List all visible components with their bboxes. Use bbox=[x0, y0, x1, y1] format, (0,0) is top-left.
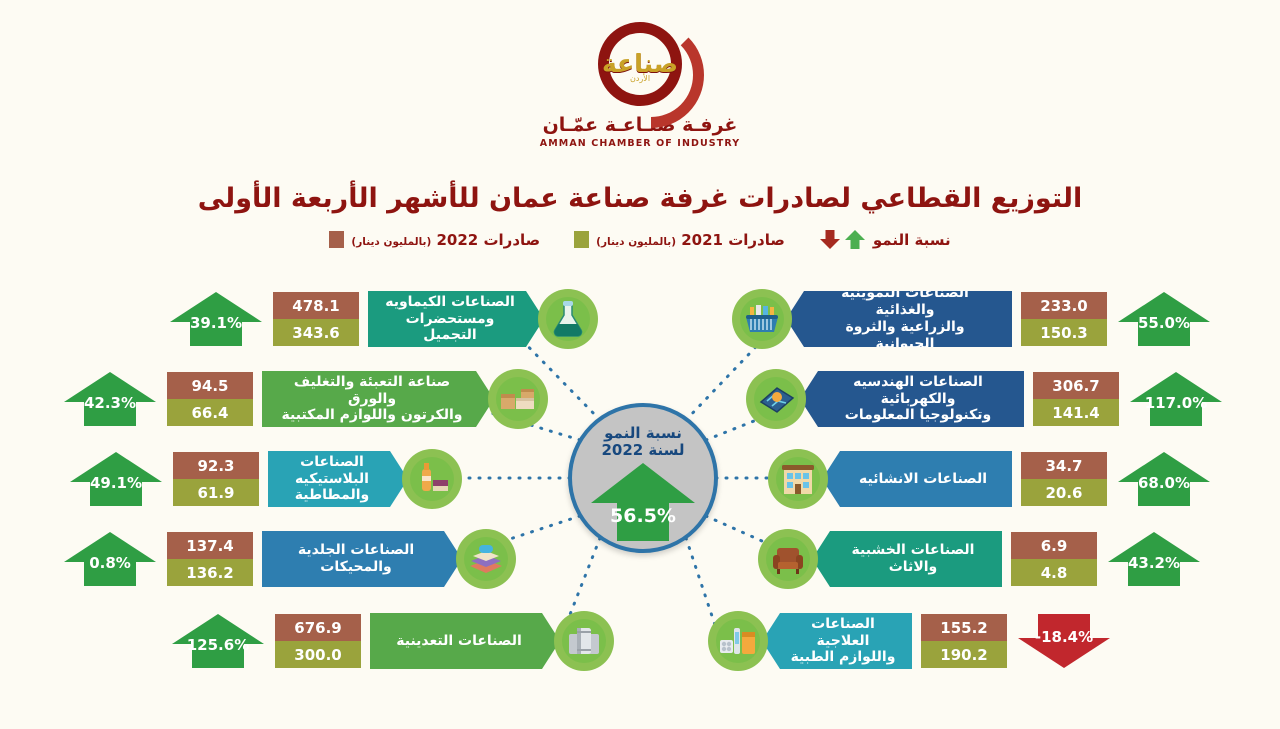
growth-value-leather: 0.8% bbox=[62, 530, 158, 588]
value-stack-plastics: 92.3 61.9 bbox=[173, 452, 259, 506]
hub-label-line2: لسنة 2022 bbox=[601, 442, 684, 459]
sector-name-line2: وتكنولوجيا المعلومات bbox=[828, 407, 1008, 424]
growth-value-food: 55.0% bbox=[1116, 290, 1212, 348]
sector-label-construction: الصناعات الانشائيه bbox=[822, 451, 1012, 507]
sector-row-plastics[interactable]: 49.1% 92.3 61.9 الصناعات البلاستيكيه وال… bbox=[68, 448, 456, 510]
value-2022-mining: 676.9 bbox=[275, 614, 361, 641]
growth-arrow-plastics: 49.1% bbox=[68, 450, 164, 508]
sector-name-line1: الصناعات التعدينية bbox=[396, 633, 522, 650]
sector-name-line2: والمطاطية bbox=[284, 487, 380, 504]
sector-name-line2: والزراعية والثروة الحيوانية bbox=[814, 319, 996, 353]
sector-name-line2: واللوازم الطبية bbox=[790, 649, 896, 666]
growth-value-mining: 125.6% bbox=[170, 612, 266, 670]
sector-label-plastics: الصناعات البلاستيكيه والمطاطية bbox=[268, 451, 408, 507]
growth-arrow-construction: 68.0% bbox=[1116, 450, 1212, 508]
value-2021-construction: 20.6 bbox=[1021, 479, 1107, 506]
value-2022-wood: 6.9 bbox=[1011, 532, 1097, 559]
value-stack-food: 233.0 150.3 bbox=[1021, 292, 1107, 346]
shopping-basket-icon bbox=[732, 289, 792, 349]
growth-value-engineering: 117.0% bbox=[1128, 370, 1224, 428]
growth-value-pharma: -18.4% bbox=[1016, 612, 1112, 670]
sector-label-packaging: صناعة التعبئة والتغليف والورق والكرتون و… bbox=[262, 371, 494, 427]
armchair-icon bbox=[758, 529, 818, 589]
value-2021-engineering: 141.4 bbox=[1033, 399, 1119, 426]
value-2021-wood: 4.8 bbox=[1011, 559, 1097, 586]
sector-name-line1: الصناعات الخشبية والاثاث bbox=[840, 542, 986, 576]
sector-label-pharma: الصناعات العلاجية واللوازم الطبية bbox=[762, 613, 912, 669]
sector-row-mining[interactable]: 125.6% 676.9 300.0 الصناعات التعدينية bbox=[170, 610, 608, 672]
growth-value-construction: 68.0% bbox=[1116, 450, 1212, 508]
value-2022-food: 233.0 bbox=[1021, 292, 1107, 319]
sector-row-chemicals[interactable]: 39.1% 478.1 343.6 الصناعات الكيماويه ومس… bbox=[168, 288, 592, 350]
value-2022-pharma: 155.2 bbox=[921, 614, 1007, 641]
value-2022-leather: 137.4 bbox=[167, 532, 253, 559]
value-2022-plastics: 92.3 bbox=[173, 452, 259, 479]
center-growth-hub: نسبة النمو لسنة 2022 56.5% bbox=[568, 403, 718, 553]
sector-name-line2: ومستحضرات التجميل bbox=[384, 311, 516, 345]
sector-row-engineering[interactable]: 117.0% 306.7 141.4 الصناعات الهندسيه وال… bbox=[752, 368, 1224, 430]
sector-name-line1: الصناعات الهندسيه والكهربائية bbox=[828, 374, 1008, 408]
sector-name-line1: الصناعات الانشائيه bbox=[859, 471, 987, 488]
value-2021-plastics: 61.9 bbox=[173, 479, 259, 506]
sector-label-engineering: الصناعات الهندسيه والكهربائية وتكنولوجيا… bbox=[800, 371, 1024, 427]
sector-row-construction[interactable]: 68.0% 34.7 20.6 الصناعات الانشائيه bbox=[774, 448, 1212, 510]
value-stack-mining: 676.9 300.0 bbox=[275, 614, 361, 668]
value-2021-packaging: 66.4 bbox=[167, 399, 253, 426]
value-stack-wood: 6.9 4.8 bbox=[1011, 532, 1097, 586]
value-2021-leather: 136.2 bbox=[167, 559, 253, 586]
infographic-canvas: صناعة الأردن غرفـة صنـاعـة عمّـان AMMAN … bbox=[0, 0, 1280, 729]
sector-name-line1: صناعة التعبئة والتغليف والورق bbox=[278, 374, 466, 408]
flask-icon bbox=[538, 289, 598, 349]
hub-arrow-up-icon bbox=[590, 463, 696, 541]
sector-name-line1: الصناعات الكيماويه bbox=[384, 294, 516, 311]
growth-arrow-chemicals: 39.1% bbox=[168, 290, 264, 348]
boxes-icon bbox=[488, 369, 548, 429]
growth-arrow-wood: 43.2% bbox=[1106, 530, 1202, 588]
sector-label-mining: الصناعات التعدينية bbox=[370, 613, 560, 669]
sector-name-line1: الصناعات الجلدية والمحيكات bbox=[278, 542, 434, 576]
growth-arrow-mining: 125.6% bbox=[170, 612, 266, 670]
value-2021-mining: 300.0 bbox=[275, 641, 361, 668]
value-stack-pharma: 155.2 190.2 bbox=[921, 614, 1007, 668]
sector-label-food: الصناعات التموينية والغذائية والزراعية و… bbox=[786, 291, 1012, 347]
value-2021-food: 150.3 bbox=[1021, 319, 1107, 346]
growth-arrow-food: 55.0% bbox=[1116, 290, 1212, 348]
folded-textiles-icon bbox=[456, 529, 516, 589]
value-2022-engineering: 306.7 bbox=[1033, 372, 1119, 399]
sector-name-line1: الصناعات التموينية والغذائية bbox=[814, 285, 996, 319]
circuit-board-icon bbox=[746, 369, 806, 429]
growth-value-packaging: 42.3% bbox=[62, 370, 158, 428]
hub-growth-value: 56.5% bbox=[610, 505, 676, 527]
sector-row-pharma[interactable]: -18.4% 155.2 190.2 الصناعات العلاجية وال… bbox=[714, 610, 1112, 672]
value-2021-chemicals: 343.6 bbox=[273, 319, 359, 346]
growth-arrow-engineering: 117.0% bbox=[1128, 370, 1224, 428]
value-2021-pharma: 190.2 bbox=[921, 641, 1007, 668]
sector-row-food[interactable]: 55.0% 233.0 150.3 الصناعات التموينية وال… bbox=[738, 288, 1212, 350]
growth-arrow-packaging: 42.3% bbox=[62, 370, 158, 428]
value-stack-engineering: 306.7 141.4 bbox=[1033, 372, 1119, 426]
medicine-icon bbox=[708, 611, 768, 671]
sector-label-leather: الصناعات الجلدية والمحيكات bbox=[262, 531, 462, 587]
growth-value-plastics: 49.1% bbox=[68, 450, 164, 508]
seal-subtext: الأردن bbox=[630, 74, 650, 83]
plastic-bottles-icon bbox=[402, 449, 462, 509]
sector-label-chemicals: الصناعات الكيماويه ومستحضرات التجميل bbox=[368, 291, 544, 347]
value-stack-packaging: 94.5 66.4 bbox=[167, 372, 253, 426]
sector-row-packaging[interactable]: 42.3% 94.5 66.4 صناعة التعبئة والتغليف و… bbox=[62, 368, 542, 430]
value-stack-leather: 137.4 136.2 bbox=[167, 532, 253, 586]
growth-value-wood: 43.2% bbox=[1106, 530, 1202, 588]
sector-label-wood: الصناعات الخشبية والاثاث bbox=[812, 531, 1002, 587]
building-icon bbox=[768, 449, 828, 509]
hub-label: نسبة النمو لسنة 2022 bbox=[601, 425, 684, 460]
value-2022-chemicals: 478.1 bbox=[273, 292, 359, 319]
sector-row-wood[interactable]: 43.2% 6.9 4.8 الصناعات الخشبية والاثاث bbox=[764, 528, 1202, 590]
sector-row-leather[interactable]: 0.8% 137.4 136.2 الصناعات الجلدية والمحي… bbox=[62, 528, 510, 590]
value-stack-chemicals: 478.1 343.6 bbox=[273, 292, 359, 346]
growth-arrow-pharma: -18.4% bbox=[1016, 612, 1112, 670]
metal-drums-icon bbox=[554, 611, 614, 671]
growth-arrow-leather: 0.8% bbox=[62, 530, 158, 588]
growth-value-chemicals: 39.1% bbox=[168, 290, 264, 348]
sector-name-line1: الصناعات البلاستيكيه bbox=[284, 454, 380, 488]
sector-name-line1: الصناعات العلاجية bbox=[790, 616, 896, 650]
value-2022-construction: 34.7 bbox=[1021, 452, 1107, 479]
hub-label-line1: نسبة النمو bbox=[601, 425, 684, 442]
value-stack-construction: 34.7 20.6 bbox=[1021, 452, 1107, 506]
sector-name-line2: والكرتون واللوازم المكتبية bbox=[278, 407, 466, 424]
value-2022-packaging: 94.5 bbox=[167, 372, 253, 399]
